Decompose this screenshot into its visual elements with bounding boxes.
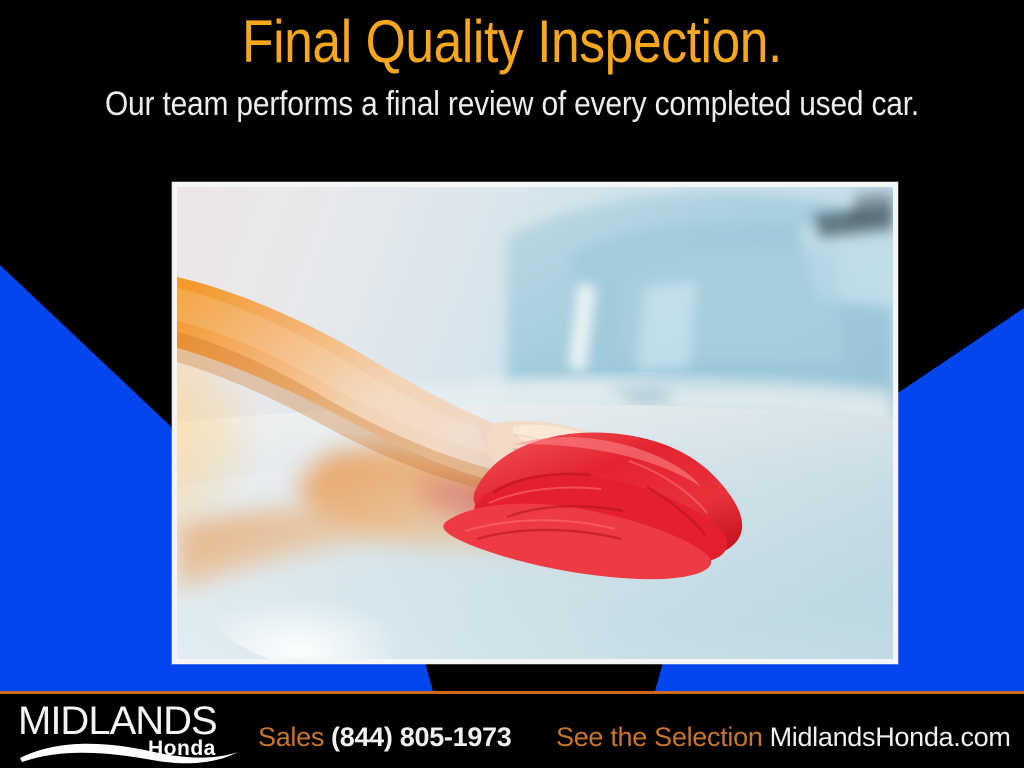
header: Final Quality Inspection. Our team perfo… [0,0,1024,160]
advertisement-banner: Final Quality Inspection. Our team perfo… [0,0,1024,768]
page-title: Final Quality Inspection. [72,8,953,76]
midlands-honda-logo[interactable]: MIDLANDS Honda [14,698,250,764]
website-url[interactable]: MidlandsHonda.com [770,722,1011,753]
sales-contact[interactable]: Sales (844) 805-1973 [258,722,511,758]
cta-label: See the Selection [556,722,763,753]
hero-photo-frame [172,182,898,664]
photo-illustration [177,187,893,659]
sales-phone-number[interactable]: (844) 805-1973 [331,722,511,753]
page-subtitle: Our team performs a final review of ever… [61,84,962,124]
sales-label: Sales [258,722,324,753]
logo-graphic: MIDLANDS Honda [14,698,250,764]
car-detailing-photo [177,187,893,659]
selection-cta[interactable]: See the Selection MidlandsHonda.com [556,722,1011,758]
